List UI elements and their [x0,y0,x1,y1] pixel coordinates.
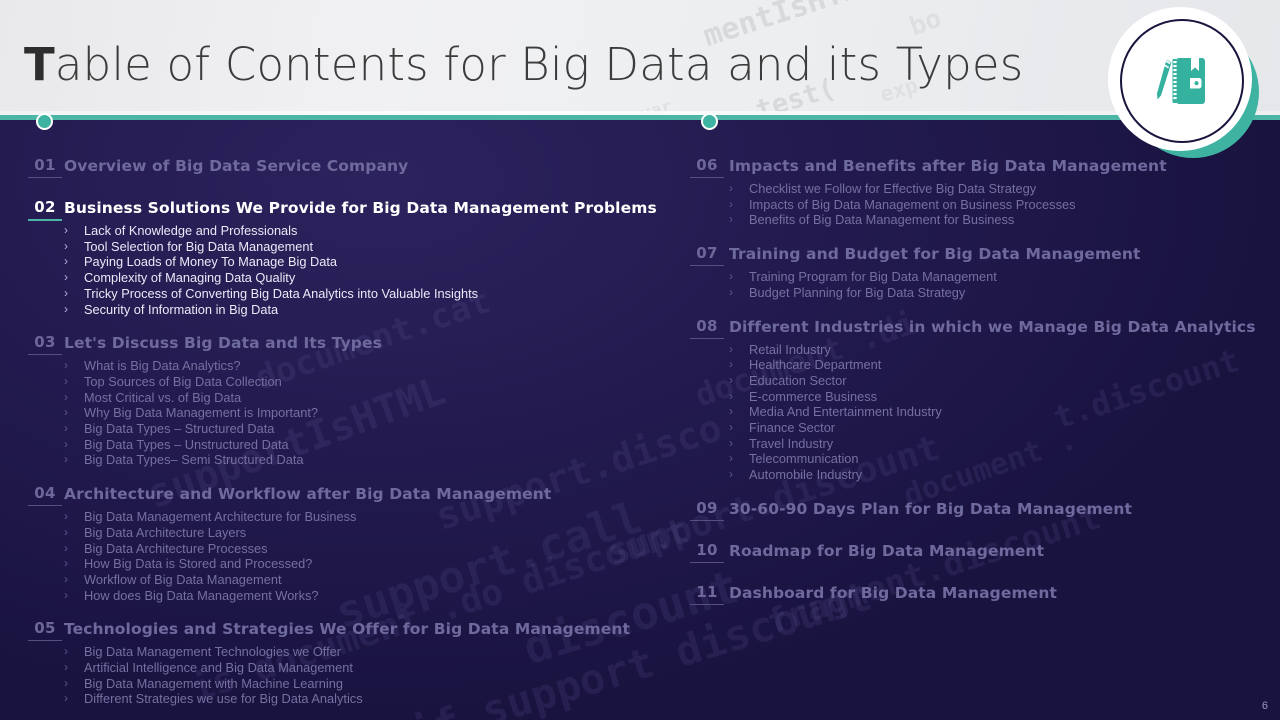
toc-entry-number: 02 [28,198,62,221]
toc-sub-item-label: Big Data Management Technologies we Offe… [84,644,341,659]
toc-entry[interactable]: 02Business Solutions We Provide for Big … [0,198,660,220]
toc-sub-item-label: Tool Selection for Big Data Management [84,239,313,254]
page-title-rest: able of Contents for Big Data and its Ty… [55,38,1024,91]
toc-sub-item-label: E-commerce Business [749,389,877,404]
toc-sub-item-label: Big Data Architecture Processes [84,541,268,556]
page-number: 6 [1262,700,1268,712]
toc-sub-item-label: Benefits of Big Data Management for Busi… [749,212,1014,227]
toc-sub-item-label: Security of Information in Big Data [84,302,278,317]
chevron-right-icon: › [64,452,68,466]
toc-sub-item-label: Travel Industry [749,436,833,451]
toc-entry-number: 04 [28,484,62,506]
toc-entry-title: Impacts and Benefits after Big Data Mana… [729,157,1167,175]
slide-header: mentIsHTML bo test( exp ) var Table of C… [0,0,1280,117]
chevron-right-icon: › [64,572,68,586]
toc-sub-item-label: How Big Data is Stored and Processed? [84,556,312,571]
toc-sub-item-label: Complexity of Managing Data Quality [84,270,295,285]
toc-sub-item-label: Finance Sector [749,420,835,435]
toc-sub-item-label: Paying Loads of Money To Manage Big Data [84,254,337,269]
toc-entry-title: Training and Budget for Big Data Managem… [729,245,1141,263]
toc-entry-number: 09 [690,499,724,521]
toc-entry-number: 03 [28,333,62,355]
toc-entry-title: Overview of Big Data Service Company [64,157,408,175]
toc-entry-number: 07 [690,244,724,266]
chevron-right-icon: › [64,541,68,555]
header-watermark-text: bo [906,4,946,43]
toc-sub-item-label: Big Data Types – Structured Data [84,421,274,436]
toc-entry-number: 08 [690,317,724,339]
chevron-right-icon: › [729,181,733,195]
timeline-start-dot [36,113,53,130]
chevron-right-icon: › [64,588,68,602]
toc-entry-number: 11 [690,583,724,605]
toc-sub-item-label: Retail Industry [749,342,831,357]
toc-sub-item-label: Telecommunication [749,451,859,466]
toc-sub-item-label: Big Data Types – Unstructured Data [84,437,289,452]
chevron-right-icon: › [64,437,68,451]
chevron-right-icon: › [729,389,733,403]
toc-slide: mentIsHTML bo test( exp ) var Table of C… [0,0,1280,720]
chevron-right-icon: › [64,525,68,539]
chevron-right-icon: › [64,691,68,705]
background-watermark-text: t.discount [1049,341,1244,437]
toc-entry-title: 30-60-90 Days Plan for Big Data Manageme… [729,500,1132,518]
chevron-right-icon: › [729,269,733,283]
toc-sub-item-label: Automobile Industry [749,467,862,482]
chevron-right-icon: › [64,421,68,435]
chevron-right-icon: › [64,286,68,300]
toc-entry-title: Roadmap for Big Data Management [729,542,1044,560]
toc-entry-title: Architecture and Workflow after Big Data… [64,485,551,503]
toc-entry-number: 05 [28,619,62,641]
chevron-right-icon: › [729,373,733,387]
toc-sub-item-label: What is Big Data Analytics? [84,358,240,373]
toc-sub-item-label: Budget Planning for Big Data Strategy [749,285,965,300]
chevron-right-icon: › [729,436,733,450]
toc-entry[interactable]: 11Dashboard for Big Data Management [665,583,1280,605]
toc-sub-item-label: Healthcare Department [749,357,881,372]
toc-entry[interactable]: 04Architecture and Workflow after Big Da… [0,484,660,506]
toc-entry[interactable]: 03Let's Discuss Big Data and Its Types [0,333,660,355]
chevron-right-icon: › [729,212,733,226]
page-title-initial: T [24,38,55,91]
toc-entry-title: Dashboard for Big Data Management [729,584,1057,602]
toc-entry-number: 10 [690,541,724,563]
chevron-right-icon: › [64,358,68,372]
toc-sub-item-label: Top Sources of Big Data Collection [84,374,282,389]
toc-sub-item-label: Media And Entertainment Industry [749,404,942,419]
toc-sub-item-label: Big Data Management Architecture for Bus… [84,509,356,524]
chevron-right-icon: › [64,509,68,523]
chevron-right-icon: › [729,467,733,481]
toc-sub-item-label: Artificial Intelligence and Big Data Man… [84,660,353,675]
notebook-pencil-icon [1120,19,1244,143]
chevron-right-icon: › [64,390,68,404]
toc-entry-number: 06 [690,156,724,178]
toc-entry[interactable]: 01Overview of Big Data Service Company [0,156,660,178]
chevron-right-icon: › [729,420,733,434]
header-icon-badge [1113,12,1263,162]
chevron-right-icon: › [729,285,733,299]
toc-sub-item-label: How does Big Data Management Works? [84,588,319,603]
toc-sub-item-label: Tricky Process of Converting Big Data An… [84,286,478,301]
toc-sub-item-label: Impacts of Big Data Management on Busine… [749,197,1075,212]
timeline-start-dot [701,113,718,130]
toc-sub-item-label: Big Data Types– Semi Structured Data [84,452,304,467]
toc-entry[interactable]: 10Roadmap for Big Data Management [665,541,1280,563]
toc-entry[interactable]: 0930-60-90 Days Plan for Big Data Manage… [665,499,1280,521]
chevron-right-icon: › [729,342,733,356]
toc-entry-number: 01 [28,156,62,178]
toc-sub-item-label: Training Program for Big Data Management [749,269,997,284]
page-title: Table of Contents for Big Data and its T… [24,38,1023,91]
chevron-right-icon: › [64,405,68,419]
chevron-right-icon: › [729,451,733,465]
toc-sub-item-label: Education Sector [749,373,846,388]
chevron-right-icon: › [729,197,733,211]
chevron-right-icon: › [64,254,68,268]
toc-sub-item-label: Lack of Knowledge and Professionals [84,223,297,238]
toc-entry-title: Business Solutions We Provide for Big Da… [64,199,657,217]
chevron-right-icon: › [64,270,68,284]
chevron-right-icon: › [64,660,68,674]
toc-sub-item-label: Most Critical vs. of Big Data [84,390,241,405]
toc-sub-item-label: Why Big Data Management is Important? [84,405,318,420]
toc-sub-item-label: Workflow of Big Data Management [84,572,282,587]
chevron-right-icon: › [64,239,68,253]
toc-sub-item-label: Big Data Architecture Layers [84,525,246,540]
chevron-right-icon: › [64,676,68,690]
chevron-right-icon: › [64,644,68,658]
toc-entry-title: Let's Discuss Big Data and Its Types [64,334,382,352]
toc-sub-item-label: Different Strategies we use for Big Data… [84,691,363,706]
toc-entry[interactable]: 05Technologies and Strategies We Offer f… [0,619,660,641]
toc-sub-item-label: Big Data Management with Machine Learnin… [84,676,343,691]
toc-sub-item-label: Checklist we Follow for Effective Big Da… [749,181,1036,196]
chevron-right-icon: › [64,223,68,237]
toc-entry[interactable]: 07Training and Budget for Big Data Manag… [665,244,1280,266]
chevron-right-icon: › [729,357,733,371]
toc-entry-title: Technologies and Strategies We Offer for… [64,620,630,638]
background-watermark-text: support.call [330,492,648,639]
chevron-right-icon: › [64,556,68,570]
chevron-right-icon: › [64,374,68,388]
toc-entry-title: Different Industries in which we Manage … [729,318,1256,336]
background-watermark-text: discount [517,559,745,675]
toc-entry[interactable]: 08Different Industries in which we Manag… [665,317,1280,339]
chevron-right-icon: › [64,302,68,316]
chevron-right-icon: › [729,404,733,418]
